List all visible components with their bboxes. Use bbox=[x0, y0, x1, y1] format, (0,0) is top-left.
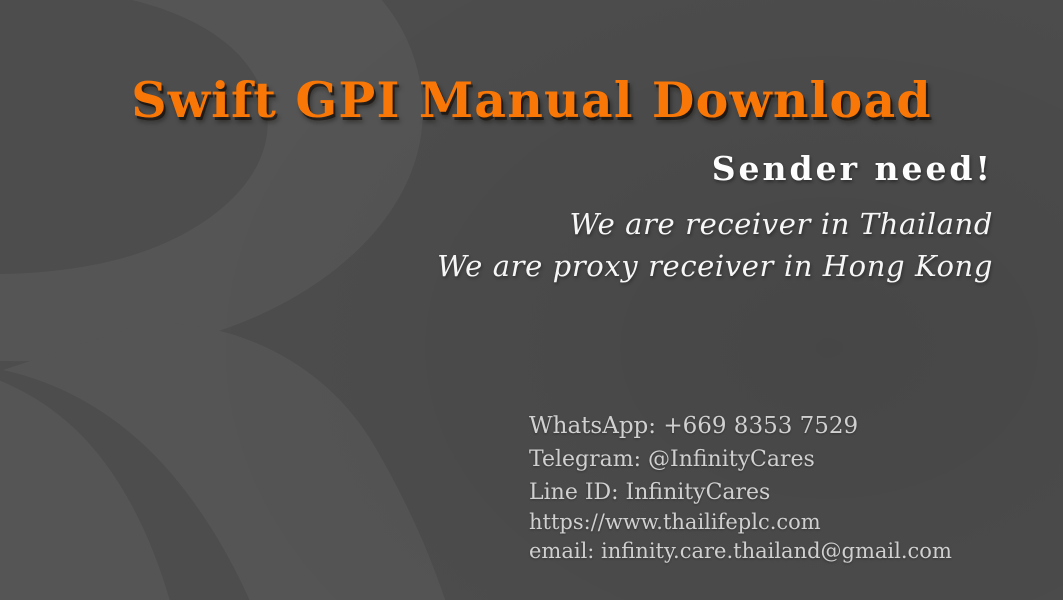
contact-line-id: Line ID: InfinityCares bbox=[529, 482, 1009, 504]
subheading: Sender need! bbox=[293, 152, 993, 187]
contact-whatsapp: WhatsApp: +669 8353 7529 bbox=[529, 415, 1009, 438]
right-text-block: Sender need! We are receiver in Thailand… bbox=[293, 152, 993, 287]
contact-email[interactable]: email: infinity.care.thailand@gmail.com bbox=[529, 541, 1009, 562]
contact-block: WhatsApp: +669 8353 7529 Telegram: @Infi… bbox=[529, 415, 1009, 562]
script-lines-group: We are receiver in Thailand We are proxy… bbox=[293, 203, 993, 287]
poster-canvas: Swift GPI Manual Download Sender need! W… bbox=[0, 0, 1063, 600]
contact-website[interactable]: https://www.thailifeplc.com bbox=[529, 512, 1009, 533]
contact-telegram: Telegram: @InfinityCares bbox=[529, 449, 1009, 471]
page-title: Swift GPI Manual Download bbox=[0, 76, 1063, 125]
script-line: We are receiver in Thailand bbox=[293, 203, 993, 245]
script-line: We are proxy receiver in Hong Kong bbox=[293, 245, 993, 287]
